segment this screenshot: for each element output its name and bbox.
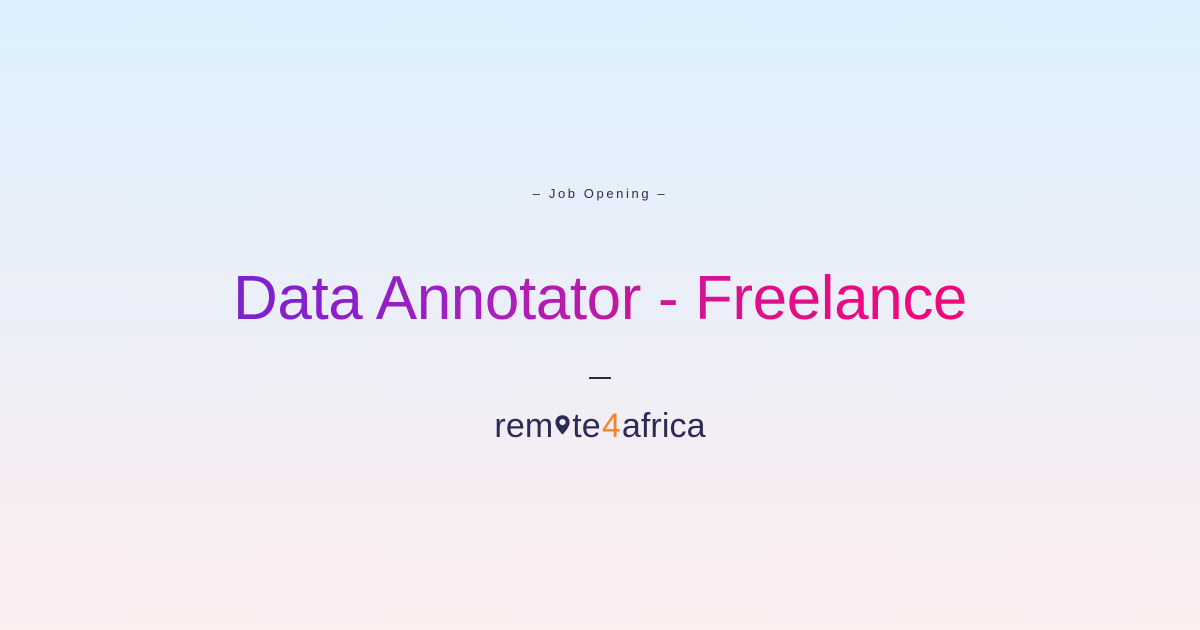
- page-title: Data Annotator - Freelance: [233, 266, 967, 333]
- logo-brand: africa: [622, 409, 706, 443]
- brand-logo: rem te 4 africa: [494, 409, 705, 443]
- logo-prefix: rem: [494, 409, 553, 443]
- logo-four: 4: [601, 409, 622, 443]
- logo-suffix: te: [572, 409, 601, 443]
- eyebrow-label: – Job Opening –: [533, 187, 667, 200]
- job-opening-card: – Job Opening – Data Annotator - Freelan…: [0, 187, 1200, 443]
- divider: [589, 377, 611, 379]
- location-pin-icon: [553, 412, 572, 438]
